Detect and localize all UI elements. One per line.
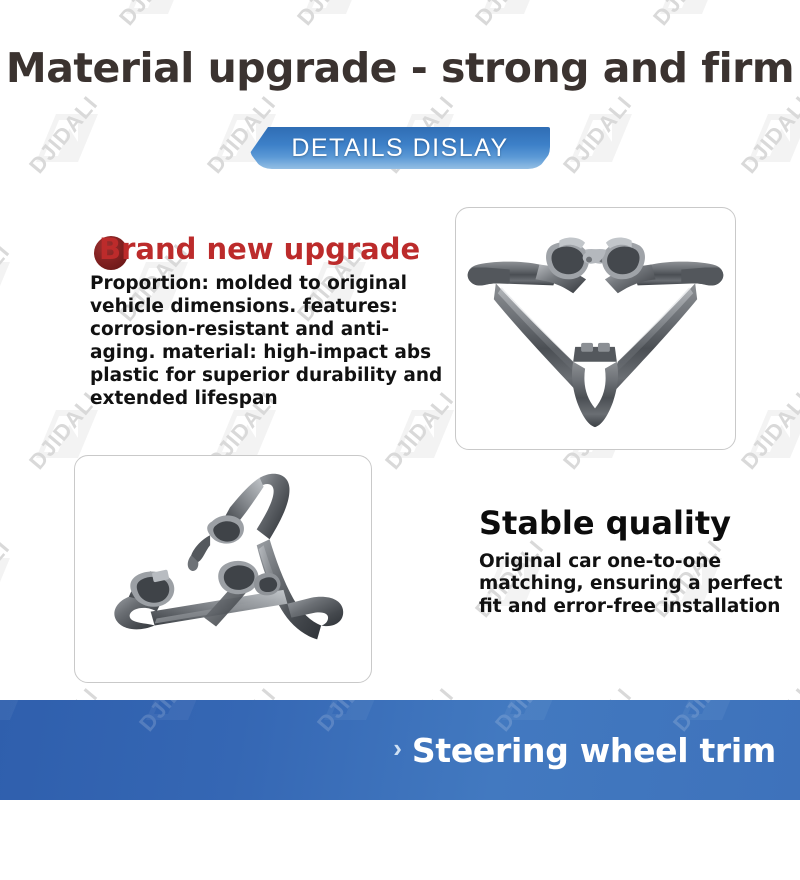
feature-stable-quality: Stable quality Original car one-to-one m… <box>479 505 789 618</box>
page-title: Material upgrade - strong and firm <box>0 44 800 92</box>
watermark-brand-text: DJIDALI <box>24 91 103 179</box>
banner-product-title: Steering wheel trim <box>412 731 776 770</box>
djidali-logo-icon <box>746 112 800 164</box>
feature-heading: Brand new upgrade <box>90 232 450 266</box>
watermark-brand-text: DJIDALI <box>736 387 800 475</box>
watermark-brand-text: DJIDALI <box>134 700 213 737</box>
djidali-logo-icon <box>0 700 32 722</box>
djidali-logo-icon <box>568 112 634 164</box>
bottom-product-banner: DJIDALIDJIDALIDJIDALIDJIDALIDJIDALIDJIDA… <box>0 700 800 800</box>
ribbon-label: DETAILS DISLAY <box>250 127 550 169</box>
djidali-logo-icon <box>0 556 12 608</box>
djidali-logo-icon <box>0 260 12 312</box>
feature-body-text: Original car one-to-one matching, ensuri… <box>479 551 789 619</box>
chevron-accent-icon: › <box>393 733 402 764</box>
feature-brand-new-upgrade: Brand new upgrade Proportion: molded to … <box>90 232 450 411</box>
watermark-brand-text: DJIDALI <box>648 0 727 31</box>
djidali-logo-icon <box>746 408 800 460</box>
watermark-brand-text: DJIDALI <box>0 239 15 327</box>
watermark-brand-text: DJIDALI <box>0 0 15 31</box>
djidali-logo-icon <box>34 112 100 164</box>
steering-wheel-trim-front-view <box>456 208 735 449</box>
watermark-brand-text: DJIDALI <box>312 700 391 737</box>
watermark-tile: DJIDALI <box>740 108 800 288</box>
watermark-brand-text: DJIDALI <box>736 91 800 179</box>
djidali-logo-icon <box>322 700 388 722</box>
details-display-ribbon: DETAILS DISLAY <box>250 127 550 169</box>
feature-body-text: Proportion: molded to original vehicle d… <box>90 273 450 411</box>
product-image-card-front <box>455 207 736 450</box>
watermark-brand-text: DJIDALI <box>470 0 549 31</box>
djidali-logo-icon <box>390 408 456 460</box>
watermark-tile: DJIDALI <box>138 700 318 800</box>
feature-heading: Stable quality <box>479 505 789 542</box>
watermark-tile: DJIDALI <box>0 700 140 800</box>
djidali-logo-icon <box>0 0 12 16</box>
steering-wheel-trim-angled-view <box>75 456 371 682</box>
djidali-logo-icon <box>212 408 278 460</box>
djidali-logo-icon <box>658 0 724 16</box>
watermark-brand-text: DJIDALI <box>0 535 15 623</box>
djidali-logo-icon <box>480 0 546 16</box>
watermark-brand-text: DJIDALI <box>114 0 193 31</box>
djidali-logo-icon <box>144 700 210 722</box>
product-image-card-angled <box>74 455 372 683</box>
djidali-logo-icon <box>34 408 100 460</box>
watermark-brand-text: DJIDALI <box>558 91 637 179</box>
djidali-logo-icon <box>302 0 368 16</box>
watermark-brand-text: DJIDALI <box>0 700 35 737</box>
djidali-logo-icon <box>124 0 190 16</box>
watermark-brand-text: DJIDALI <box>292 0 371 31</box>
